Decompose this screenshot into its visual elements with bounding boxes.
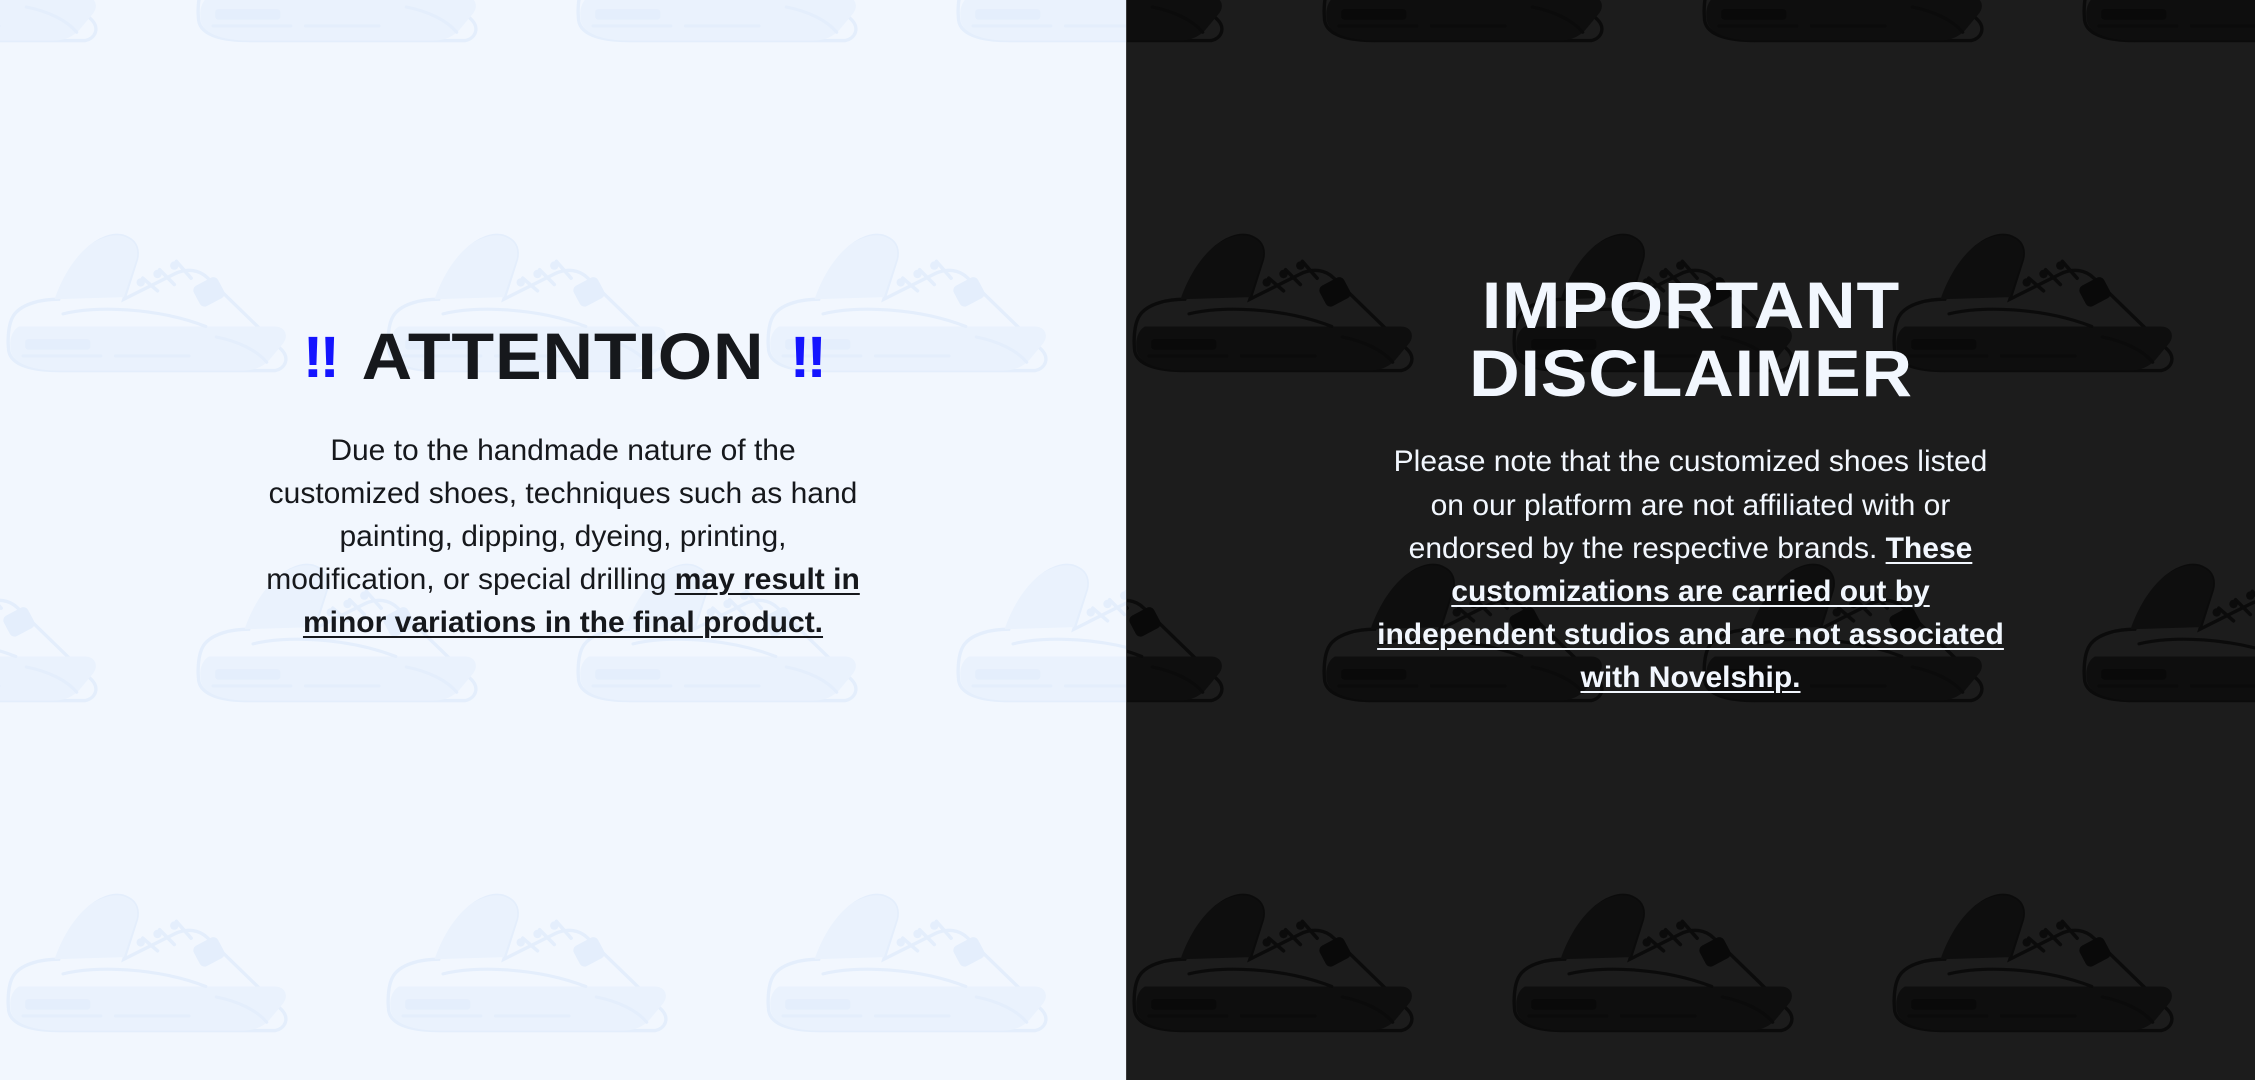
attention-panel: ‼ ATTENTION ‼ Due to the handmade nature…	[0, 0, 1126, 1080]
attention-body: Due to the handmade nature of the custom…	[263, 429, 863, 645]
attention-heading: ‼ ATTENTION ‼	[9, 323, 1118, 390]
disclaimer-body: Please note that the customized shoes li…	[1376, 440, 2006, 699]
attention-content: ‼ ATTENTION ‼ Due to the handmade nature…	[0, 323, 1126, 644]
disclaimer-panel: IMPORTANT DISCLAIMER Please note that th…	[1126, 0, 2255, 1080]
double-exclamation-left-icon: ‼	[303, 329, 336, 387]
panel-divider	[1126, 0, 1127, 1080]
promo-banner: ‼ ATTENTION ‼ Due to the handmade nature…	[0, 0, 2255, 1080]
disclaimer-content: IMPORTANT DISCLAIMER Please note that th…	[1126, 272, 2255, 699]
disclaimer-heading: IMPORTANT DISCLAIMER	[1309, 272, 2072, 408]
attention-heading-label: ATTENTION	[362, 323, 765, 390]
double-exclamation-right-icon: ‼	[790, 329, 823, 387]
